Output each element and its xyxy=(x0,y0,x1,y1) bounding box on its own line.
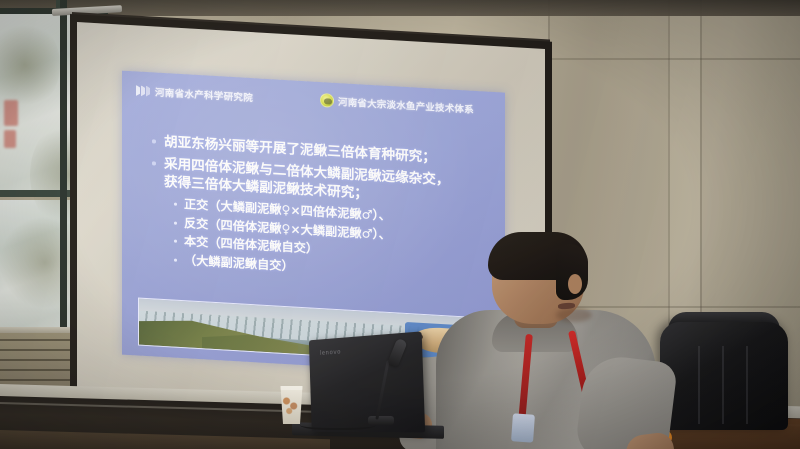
laptop-brand-label: lenovo xyxy=(320,349,341,357)
system-logo-text: 河南省大宗淡水鱼产业技术体系 xyxy=(338,94,474,116)
desk-cable xyxy=(300,418,376,430)
chevron-mark-icon xyxy=(136,84,151,98)
bullet-dot xyxy=(152,161,156,165)
photo-scene: 河南省水产科学研究院 河南省大宗淡水鱼产业技术体系 胡亚东杨兴丽等开展了泥鳅三倍… xyxy=(0,0,800,449)
institute-logo: 河南省水产科学研究院 xyxy=(136,83,253,104)
id-badge xyxy=(511,413,535,442)
seated-presenter xyxy=(430,238,660,449)
executive-office-chair[interactable] xyxy=(660,322,788,430)
bullet-dot xyxy=(174,240,177,243)
circular-badge-icon xyxy=(320,93,334,108)
bullet-dot xyxy=(152,139,156,143)
institute-logo-text: 河南省水产科学研究院 xyxy=(155,84,253,104)
sub-bullet-text: （大鳞副泥鳅自交） xyxy=(184,253,294,273)
bullet-dot xyxy=(174,203,177,206)
ear xyxy=(568,274,582,294)
bullet-dot xyxy=(174,221,177,224)
system-logo: 河南省大宗淡水鱼产业技术体系 xyxy=(320,93,474,116)
bullet-dot xyxy=(174,258,177,261)
paper-cup[interactable] xyxy=(279,386,304,424)
